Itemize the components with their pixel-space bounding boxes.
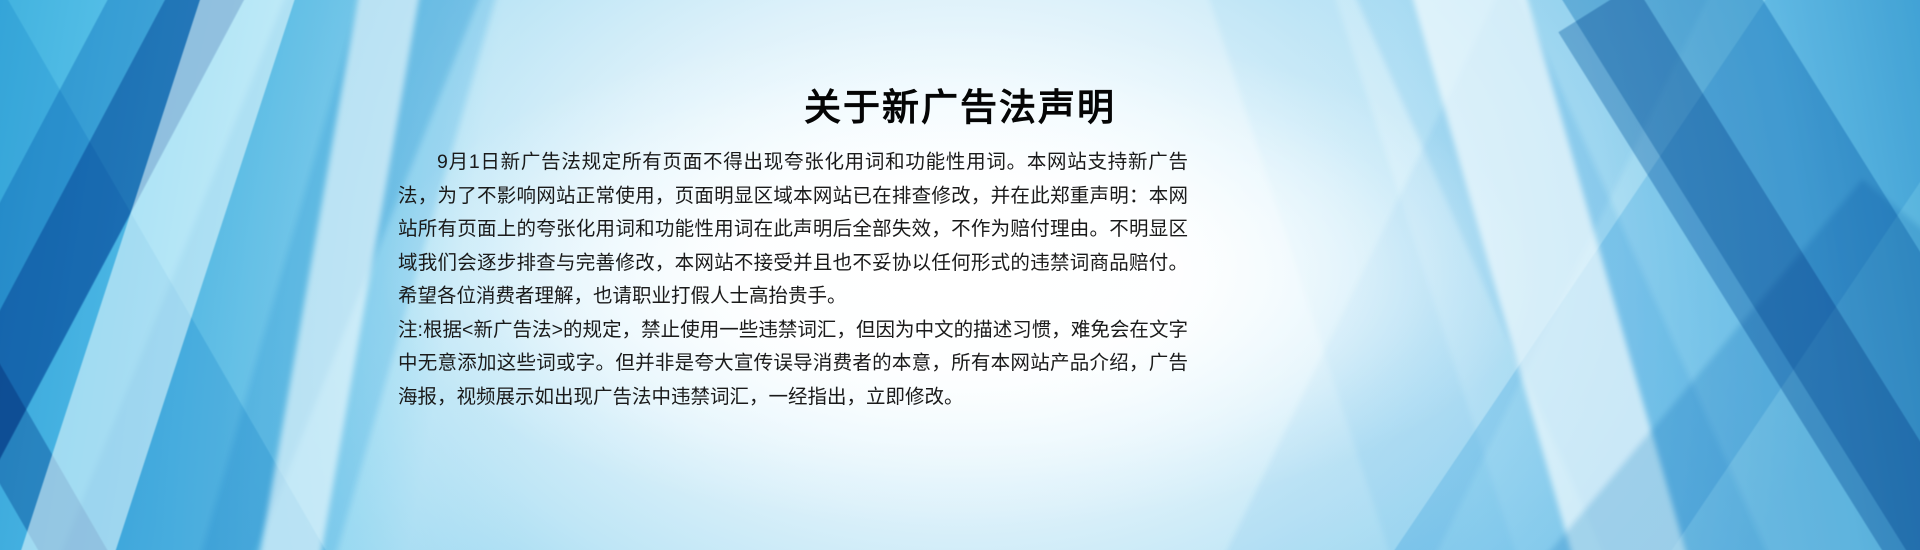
- statement-body: 9月1日新广告法规定所有页面不得出现夸张化用词和功能性用词。本网站支持新广告法，…: [398, 146, 1188, 414]
- content-area: 关于新广告法声明 9月1日新广告法规定所有页面不得出现夸张化用词和功能性用词。本…: [0, 0, 1920, 550]
- page-title: 关于新广告法声明: [0, 86, 1920, 130]
- statement-paragraph-2: 注:根据<新广告法>的规定，禁止使用一些违禁词汇，但因为中文的描述习惯，难免会在…: [398, 314, 1188, 415]
- banner-stage: 关于新广告法声明 9月1日新广告法规定所有页面不得出现夸张化用词和功能性用词。本…: [0, 0, 1920, 550]
- statement-paragraph-1: 9月1日新广告法规定所有页面不得出现夸张化用词和功能性用词。本网站支持新广告法，…: [398, 146, 1188, 314]
- page-title-text: 关于新广告法声明: [804, 87, 1116, 128]
